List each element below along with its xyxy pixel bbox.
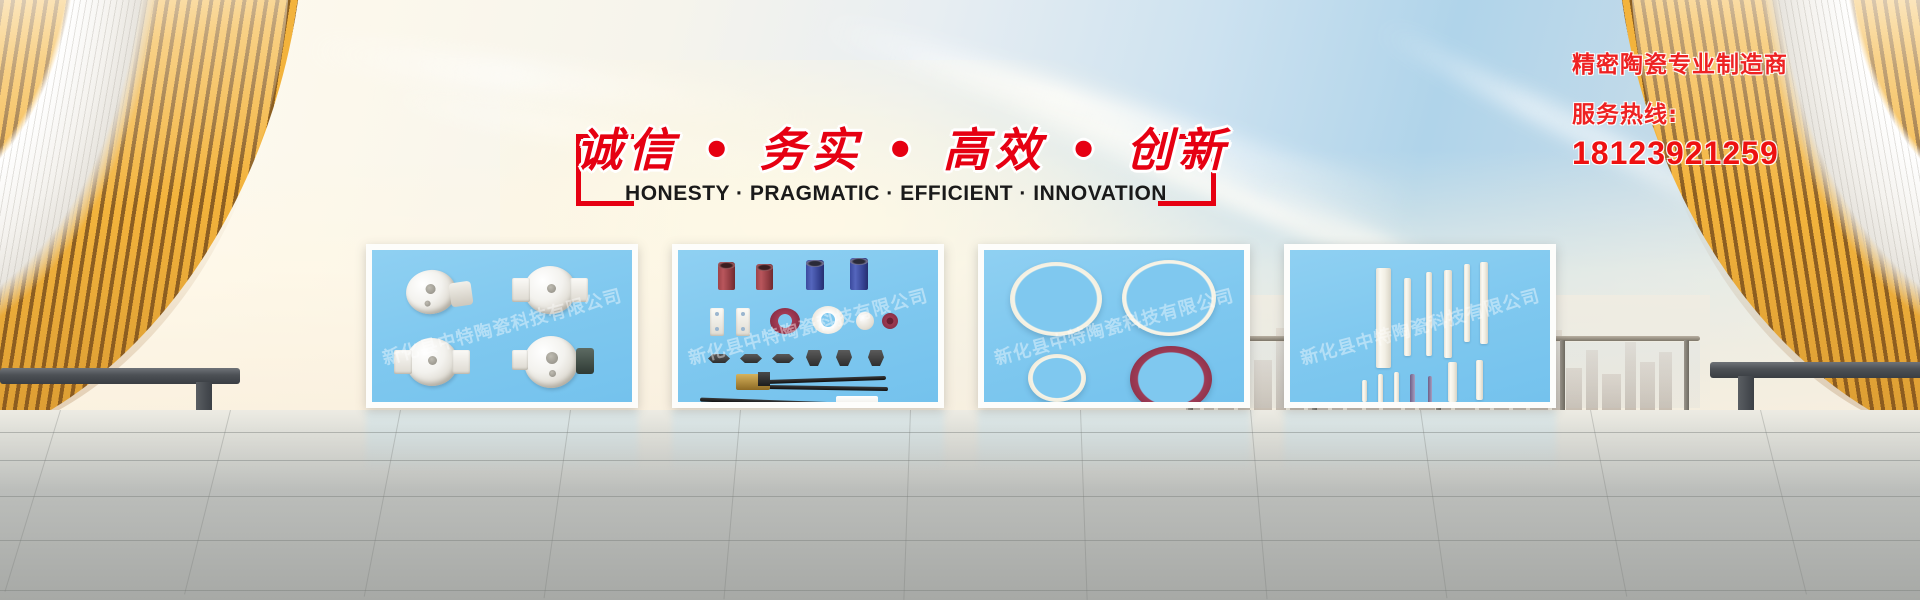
hotline-number[interactable]: 18123921259: [1572, 135, 1902, 172]
contact-block: 精密陶瓷专业制造商 服务热线: 18123921259: [1572, 50, 1902, 172]
slogan-english: HONESTY · PRAGMATIC · EFFICIENT · INNOVA…: [576, 182, 1216, 206]
slogan-chinese: 诚信 • 务实 • 高效 • 创新: [576, 114, 1216, 180]
hero-banner: 诚信 • 务实 • 高效 • 创新 HONESTY · PRAGMATIC · …: [0, 0, 1920, 600]
tiled-floor: [0, 410, 1920, 600]
product-panel-3[interactable]: 新化县中特陶瓷科技有限公司: [978, 244, 1250, 408]
product-panel-4[interactable]: 新化县中特陶瓷科技有限公司: [1284, 244, 1556, 408]
hotline-label: 服务热线:: [1572, 95, 1902, 129]
slogan-block: 诚信 • 务实 • 高效 • 创新 HONESTY · PRAGMATIC · …: [576, 108, 1216, 228]
panel-4-watermark: 新化县中特陶瓷科技有限公司: [1297, 281, 1542, 370]
curved-canopy-left: [0, 0, 310, 420]
product-panel-1[interactable]: 新化县中特陶瓷科技有限公司: [366, 244, 638, 408]
product-panel-2[interactable]: 新化县中特陶瓷科技有限公司: [672, 244, 944, 408]
manufacturer-tagline: 精密陶瓷专业制造商: [1572, 50, 1902, 81]
